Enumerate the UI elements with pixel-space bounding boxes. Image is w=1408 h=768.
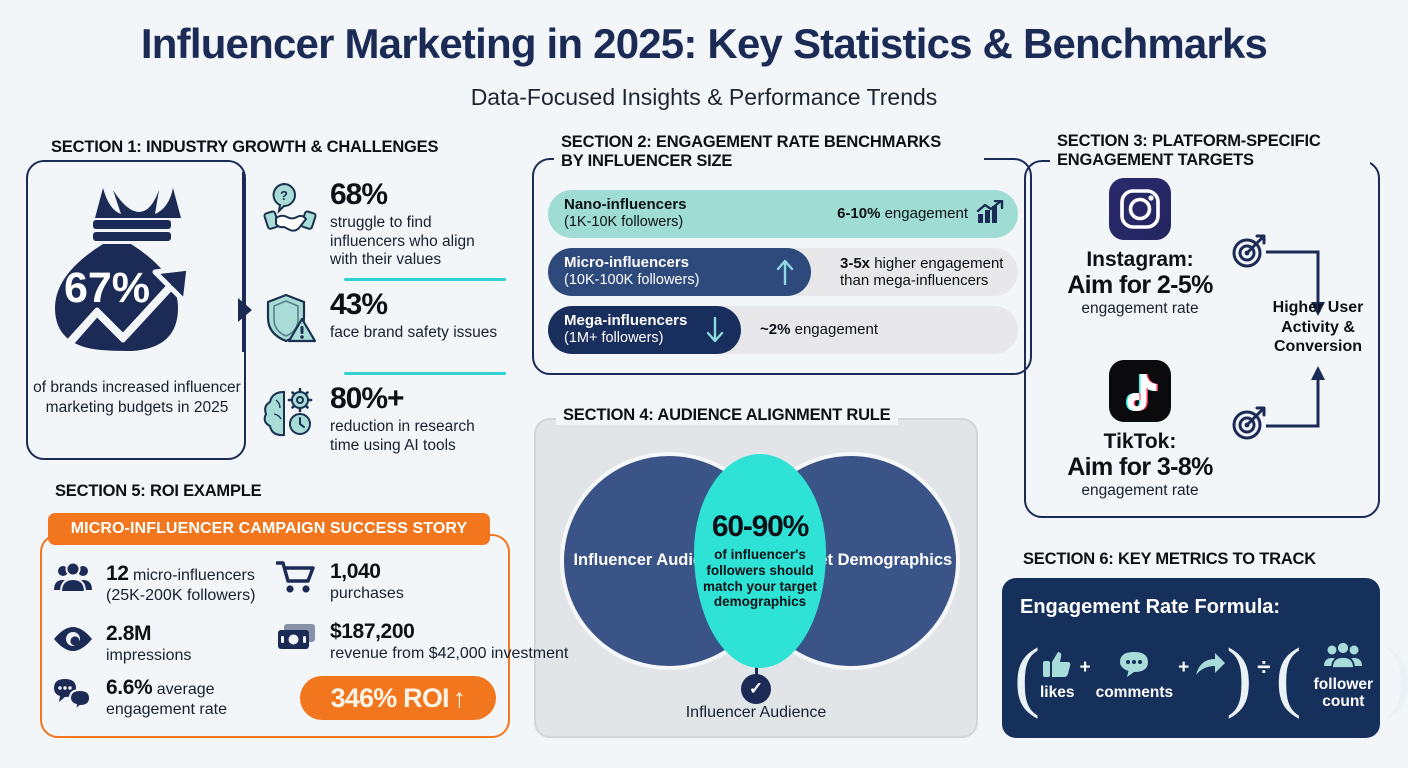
bar-label: Micro-influencers (10K-100K followers) <box>564 255 699 288</box>
section-3-platform-tiktok: TikTok: Aim for 3-8% engagement rate <box>1040 360 1240 500</box>
target-arrow-icon <box>1230 232 1268 275</box>
bar-label: Nano-influencers (1K-10K followers) <box>564 197 687 230</box>
section-1-connector-arrow <box>238 298 252 322</box>
venn-footer-label: Influencer Audience <box>600 704 912 722</box>
section-1-divider-1 <box>344 372 506 375</box>
section-1-stat-1: 43% face brand safety issues <box>262 290 502 346</box>
formula-term-label: follower count <box>1301 677 1385 710</box>
platform-sub: engagement rate <box>1040 300 1240 318</box>
close-paren-2: ) <box>1385 646 1408 707</box>
formula-term-comments: comments <box>1096 650 1174 702</box>
bar-range: (1M+ followers) <box>564 330 687 346</box>
bar-metric: 3-5x higher engagement than mega-influen… <box>840 248 1022 296</box>
bar-name: Mega-influencers <box>564 313 687 330</box>
arrow-up-icon <box>775 259 795 290</box>
arrow-up-icon: ↑ <box>453 683 466 714</box>
item-sub: (25K-200K followers) <box>106 587 255 604</box>
formula-term-likes: likes <box>1040 650 1074 702</box>
brain-gear-clock-icon <box>262 384 318 440</box>
arrow-down-icon <box>705 317 725 348</box>
open-paren-2: ( <box>1275 646 1301 707</box>
divide-operator: ÷ <box>1252 654 1275 682</box>
eye-icon <box>52 622 94 656</box>
formula-term-followers: follower count <box>1301 642 1385 710</box>
section-5-title: SECTION 5: ROI EXAMPLE <box>48 482 268 501</box>
svg-text:67%: 67% <box>64 264 150 312</box>
handshake-question-icon: ? <box>262 180 318 236</box>
instagram-icon <box>1109 178 1171 240</box>
section-1-stat-0-desc: struggle to find influencers who align w… <box>330 214 502 270</box>
section-3-platform-instagram: Instagram: Aim for 2-5% engagement rate <box>1040 178 1240 318</box>
platform-sub: engagement rate <box>1040 482 1240 500</box>
engagement-rate-formula: ( likes + comments + ) ÷ ( <box>1014 630 1374 722</box>
section-5-item-0: 12 micro-influencers(25K-200K followers) <box>52 562 255 606</box>
bar-metric-rest: engagement <box>795 321 878 338</box>
section-4-title: SECTION 4: AUDIENCE ALIGNMENT RULE <box>556 406 898 425</box>
item-sub: revenue from $42,000 investment <box>330 645 568 662</box>
money-bag-growth-arrow-icon: 67% <box>41 180 231 360</box>
item-value: 12 <box>106 562 129 585</box>
page-title: Influencer Marketing in 2025: Key Statis… <box>0 20 1408 68</box>
people-group-icon <box>1321 642 1365 675</box>
platform-name: Instagram: <box>1040 248 1240 272</box>
venn-overlap-text: of influencer's followers should match y… <box>698 547 822 611</box>
bar-metric-rest: engagement <box>885 205 968 222</box>
svg-text:?: ? <box>280 188 288 203</box>
formula-term-label: comments <box>1096 685 1174 702</box>
bar-chart-growth-icon <box>976 200 1004 228</box>
bar-range: (1K-10K followers) <box>564 214 687 230</box>
item-sub: engagement rate <box>106 701 227 718</box>
section-5-item-3: 1,040purchases <box>276 560 404 604</box>
target-arrow-icon <box>1230 404 1268 447</box>
bar-metric-bold: ~2% <box>760 321 790 338</box>
section-1-stat-0: ? 68% struggle to find influencers who a… <box>262 180 502 270</box>
section-1-hero: 67% <box>26 172 246 360</box>
section-5-item-1: 2.8Mimpressions <box>52 622 191 666</box>
section-1-stat-2-value: 80%+ <box>330 384 506 414</box>
platform-name: TikTok: <box>1040 430 1240 454</box>
section-1-title: SECTION 1: INDUSTRY GROWTH & CHALLENGES <box>44 138 445 157</box>
bar-name: Micro-influencers <box>564 255 699 272</box>
section-3-flow-arrows <box>1264 240 1374 480</box>
formula-term-shares <box>1194 651 1226 686</box>
bar-metric: 6-10% engagement <box>837 190 1004 238</box>
platform-target: Aim for 3-8% <box>1040 454 1240 482</box>
section-3-title: SECTION 3: PLATFORM-SPECIFIC ENGAGEMENT … <box>1050 132 1370 171</box>
share-arrow-icon <box>1194 651 1226 684</box>
bar-name: Nano-influencers <box>564 197 687 214</box>
money-bills-icon <box>276 620 318 654</box>
platform-target: Aim for 2-5% <box>1040 272 1240 300</box>
plus-operator: + <box>1074 657 1095 679</box>
venn-diagram: Influencer Audience Target Demographics … <box>560 452 960 682</box>
chat-bubbles-icon <box>52 676 94 710</box>
venn-overlap-value: 60-90% <box>712 512 808 542</box>
section-1-hero-caption: of brands increased influencer marketing… <box>26 378 248 418</box>
section-1-stat-2: 80%+ reduction in research time using AI… <box>262 384 506 455</box>
section-5-item-2: 6.6% averageengagement rate <box>52 676 227 720</box>
bar-range: (10K-100K followers) <box>564 272 699 288</box>
section-1-stat-2-desc: reduction in research time using AI tool… <box>330 418 506 455</box>
item-value: 6.6% <box>106 676 152 699</box>
item-value: 1,040 <box>330 560 381 583</box>
item-value: $187,200 <box>330 620 414 643</box>
tiktok-icon <box>1109 360 1171 422</box>
section-1-connector-line <box>242 172 245 352</box>
item-sub: purchases <box>330 585 404 602</box>
formula-term-label: likes <box>1040 685 1074 702</box>
section-3-outcome: Higher User Activity & Conversion <box>1258 298 1378 357</box>
section-1-divider-0 <box>344 278 506 281</box>
section-6-title: SECTION 6: KEY METRICS TO TRACK <box>1016 550 1323 569</box>
page-subtitle: Data-Focused Insights & Performance Tren… <box>0 84 1408 111</box>
bar-metric: ~2% engagement <box>760 306 878 354</box>
infographic-canvas: Influencer Marketing in 2025: Key Statis… <box>0 0 1408 768</box>
roi-badge: 346% ROI ↑ <box>300 676 496 720</box>
open-paren: ( <box>1014 646 1040 707</box>
item-label: average <box>157 681 215 698</box>
section-1-stat-1-desc: face brand safety issues <box>330 324 502 343</box>
close-paren: ) <box>1226 646 1252 707</box>
section-2-bar-micro[interactable]: Micro-influencers (10K-100K followers) 3… <box>548 248 1018 296</box>
section-5-banner: MICRO-INFLUENCER CAMPAIGN SUCCESS STORY <box>48 513 490 545</box>
bar-fill: Micro-influencers (10K-100K followers) <box>548 248 811 296</box>
shield-warning-icon <box>262 290 318 346</box>
bar-metric-bold: 3-5x <box>840 255 870 272</box>
item-sub: impressions <box>106 647 191 664</box>
section-5-item-4: $187,200revenue from $42,000 investment <box>276 620 568 664</box>
people-group-icon <box>52 562 94 596</box>
item-value: 2.8M <box>106 622 151 645</box>
comment-bubble-icon <box>1118 650 1150 683</box>
item-label: micro-influencers <box>133 567 255 584</box>
section-2-bar-nano[interactable]: Nano-influencers (1K-10K followers) 6-10… <box>548 190 1018 238</box>
section-2-bar-mega[interactable]: Mega-influencers (1M+ followers) ~2% eng… <box>548 306 1018 354</box>
section-2-title: SECTION 2: ENGAGEMENT RATE BENCHMARKS BY… <box>554 133 984 172</box>
roi-value: 346% ROI <box>331 683 449 714</box>
thumbs-up-icon <box>1042 650 1072 683</box>
plus-operator-2: + <box>1173 657 1194 679</box>
formula-title: Engagement Rate Formula: <box>1020 596 1280 619</box>
section-1-stat-0-value: 68% <box>330 180 502 210</box>
bar-label: Mega-influencers (1M+ followers) <box>564 313 687 346</box>
bar-metric-bold: 6-10% <box>837 205 880 222</box>
bar-fill: Mega-influencers (1M+ followers) <box>548 306 741 354</box>
section-1-stat-1-value: 43% <box>330 290 502 320</box>
check-circle-icon: ✓ <box>741 674 771 704</box>
shopping-cart-icon <box>276 560 318 594</box>
section-2-bar-list: Nano-influencers (1K-10K followers) 6-10… <box>548 190 1018 364</box>
